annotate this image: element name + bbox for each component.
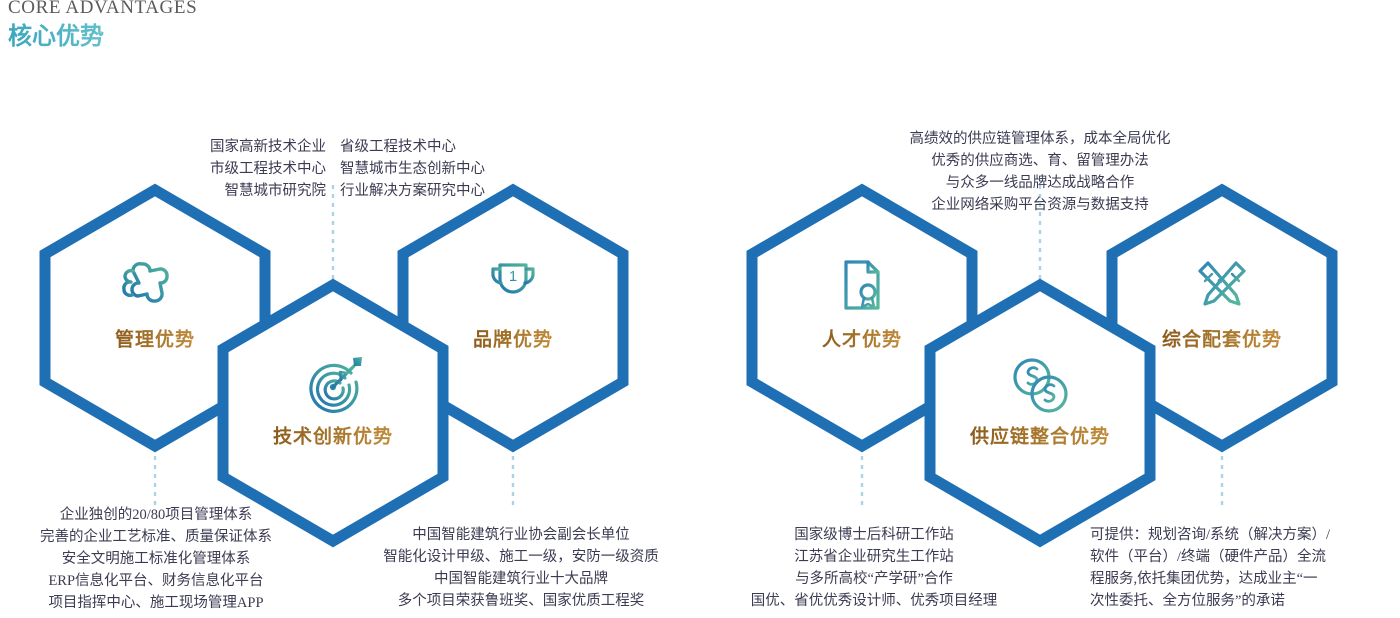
callout-line: 程服务,依托集团优势，达成业主“一	[1090, 568, 1330, 590]
callout-integrated-bottom: 可提供：规划咨询/系统（解决方案）/ 软件（平台）/终端（硬件产品）全流 程服务…	[1090, 524, 1330, 612]
callout-brand-bottom: 中国智能建筑行业协会副会长单位 智能化设计甲级、施工一级，安防一级资质 中国智能…	[383, 524, 659, 612]
callout-line: 安全文明施工标准化管理体系	[40, 548, 272, 570]
hexagon-label-brand: 品牌优势	[473, 325, 553, 352]
callout-talent-bottom: 国家级博士后科研工作站 江苏省企业研究生工作站 与多所高校“产学研”合作 国优、…	[751, 524, 998, 612]
callout-line: 国优、省优优秀设计师、优秀项目经理	[751, 590, 998, 612]
slide-canvas: CORE ADVANTAGES 核心优势	[0, 0, 1400, 618]
hexagon-label-talent: 人才优势	[822, 325, 902, 352]
callout-line: 软件（平台）/终端（硬件产品）全流	[1090, 546, 1330, 568]
callout-line: 智能化设计甲级、施工一级，安防一级资质	[383, 546, 659, 568]
callout-line: 完善的企业工艺标准、质量保证体系	[40, 526, 272, 548]
callout-line: 中国智能建筑行业协会副会长单位	[383, 524, 659, 546]
hexagon-label-integrated: 综合配套优势	[1162, 325, 1282, 352]
hexagon-label-supplychain: 供应链整合优势	[970, 422, 1110, 449]
callout-cell: 智慧城市研究院	[196, 180, 326, 202]
callout-line: 中国智能建筑行业十大品牌	[383, 568, 659, 590]
callout-cell: 国家高新技术企业	[196, 136, 326, 158]
callout-line: 国家级博士后科研工作站	[751, 524, 998, 546]
callout-line: 次性委托、全方位服务”的承诺	[1090, 590, 1330, 612]
callout-line: 企业独创的20/80项目管理体系	[40, 504, 272, 526]
callout-management-bottom: 企业独创的20/80项目管理体系 完善的企业工艺标准、质量保证体系 安全文明施工…	[40, 504, 272, 614]
hexagon-label-management: 管理优势	[115, 325, 195, 352]
callout-row: 国家高新技术企业 省级工程技术中心	[196, 136, 500, 158]
callout-cell: 智慧城市生态创新中心	[340, 158, 500, 180]
callout-line: 企业网络采购平台资源与数据支持	[910, 194, 1171, 216]
callout-line: 江苏省企业研究生工作站	[751, 546, 998, 568]
callout-cell: 省级工程技术中心	[340, 136, 500, 158]
callout-line: 优秀的供应商选、育、留管理办法	[910, 150, 1171, 172]
hexagon-label-technology: 技术创新优势	[273, 422, 393, 449]
callout-row: 市级工程技术中心 智慧城市生态创新中心	[196, 158, 500, 180]
callout-line: 高绩效的供应链管理体系，成本全局优化	[910, 128, 1171, 150]
callout-line: ERP信息化平台、财务信息化平台	[40, 570, 272, 592]
callout-line: 多个项目荣获鲁班奖、国家优质工程奖	[383, 590, 659, 612]
callout-line: 与多所高校“产学研”合作	[751, 568, 998, 590]
svg-text:1: 1	[509, 268, 517, 285]
callout-line: 可提供：规划咨询/系统（解决方案）/	[1090, 524, 1330, 546]
callout-row: 智慧城市研究院 行业解决方案研究中心	[196, 180, 500, 202]
callout-line: 与众多一线品牌达成战略合作	[910, 172, 1171, 194]
callout-cell: 行业解决方案研究中心	[340, 180, 500, 202]
callout-supplychain-top: 高绩效的供应链管理体系，成本全局优化 优秀的供应商选、育、留管理办法 与众多一线…	[910, 128, 1171, 216]
callout-line: 项目指挥中心、施工现场管理APP	[40, 592, 272, 614]
callout-technology-top: 国家高新技术企业 省级工程技术中心 市级工程技术中心 智慧城市生态创新中心 智慧…	[196, 136, 500, 202]
callout-cell: 市级工程技术中心	[196, 158, 326, 180]
